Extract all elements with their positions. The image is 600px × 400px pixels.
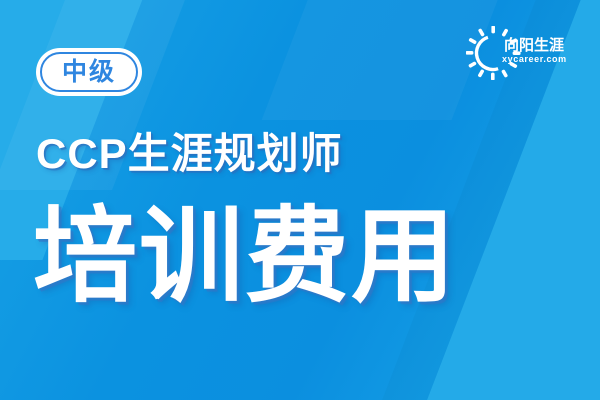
big-title-text: 培训费用 (33, 205, 457, 309)
brand-name-cn: 向阳生涯 (504, 38, 564, 53)
brand-url: xycareer.com (502, 55, 567, 64)
promo-banner: 中级 CCP生涯规划师 培训费用 (0, 0, 600, 400)
level-badge: 中级 (36, 48, 142, 96)
brand-logo: 向阳生涯 xycareer.com (466, 26, 582, 80)
banner-content: 中级 CCP生涯规划师 培训费用 (0, 0, 600, 400)
headline-text: CCP生涯规划师 (36, 133, 343, 175)
level-badge-label: 中级 (62, 60, 116, 85)
